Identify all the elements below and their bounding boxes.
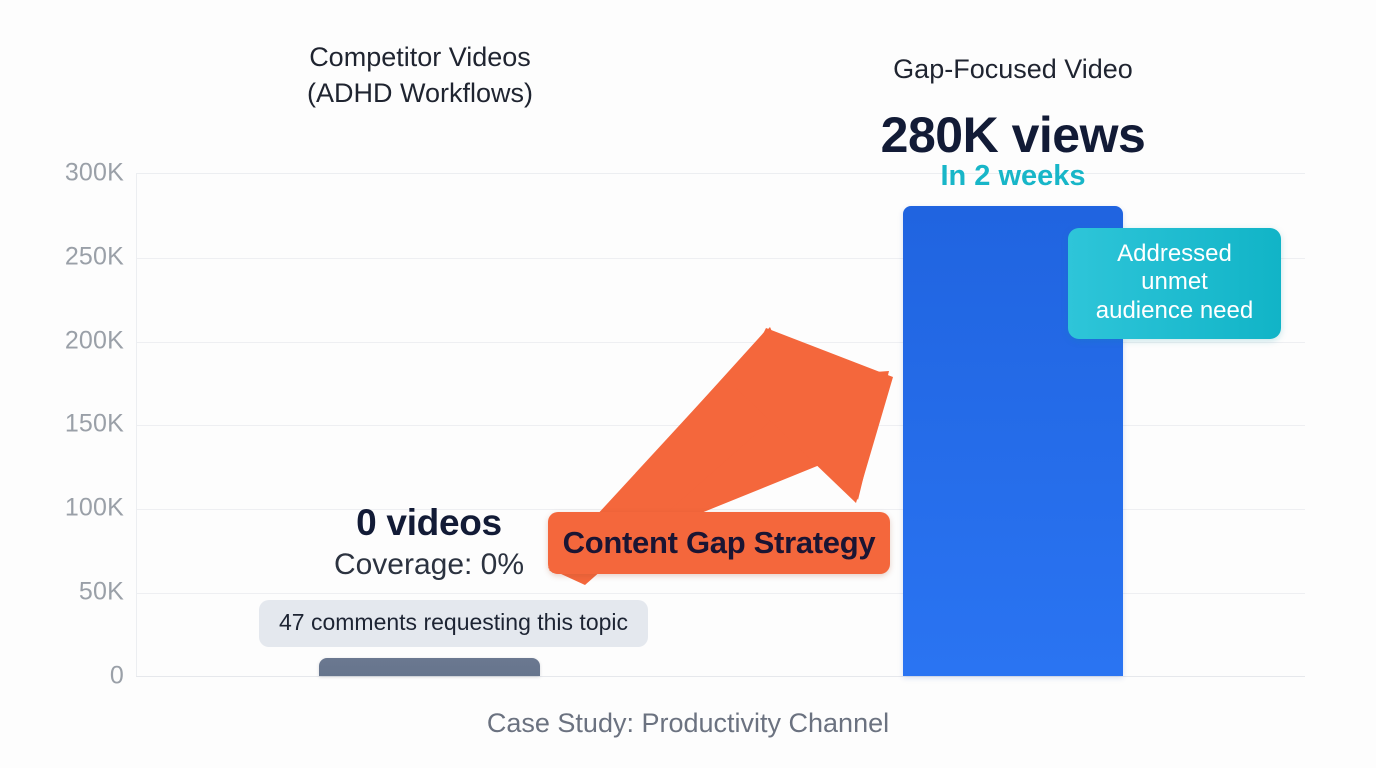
gridline-200k bbox=[137, 342, 1305, 343]
comment-demand-pill: 47 comments requesting this topic bbox=[259, 600, 648, 647]
column-header-gap-focused: Gap-Focused Video bbox=[843, 52, 1183, 88]
y-tick-300k: 300K bbox=[65, 159, 124, 188]
axis-baseline bbox=[136, 676, 1305, 677]
gap-timeframe-note: In 2 weeks bbox=[813, 160, 1213, 193]
unmet-need-badge: Addressed unmet audience need bbox=[1068, 228, 1281, 339]
chart-canvas: 300K 250K 200K 150K 100K 50K 0 Competito… bbox=[0, 0, 1376, 768]
column-header-competitor: Competitor Videos (ADHD Workflows) bbox=[250, 40, 590, 111]
y-tick-100k: 100K bbox=[65, 494, 124, 523]
y-tick-0: 0 bbox=[110, 662, 124, 691]
gridline-150k bbox=[137, 425, 1305, 426]
gap-views-value: 280K views bbox=[813, 106, 1213, 164]
y-tick-50k: 50K bbox=[79, 578, 124, 607]
y-axis: 300K 250K 200K 150K 100K 50K 0 bbox=[0, 0, 124, 768]
bar-competitor-videos[interactable] bbox=[319, 658, 540, 676]
y-tick-250k: 250K bbox=[65, 243, 124, 272]
content-gap-strategy-label: Content Gap Strategy bbox=[548, 512, 890, 574]
y-tick-200k: 200K bbox=[65, 327, 124, 356]
y-tick-150k: 150K bbox=[65, 410, 124, 439]
gridline-50k bbox=[137, 593, 1305, 594]
footer-caption: Case Study: Productivity Channel bbox=[0, 708, 1376, 739]
